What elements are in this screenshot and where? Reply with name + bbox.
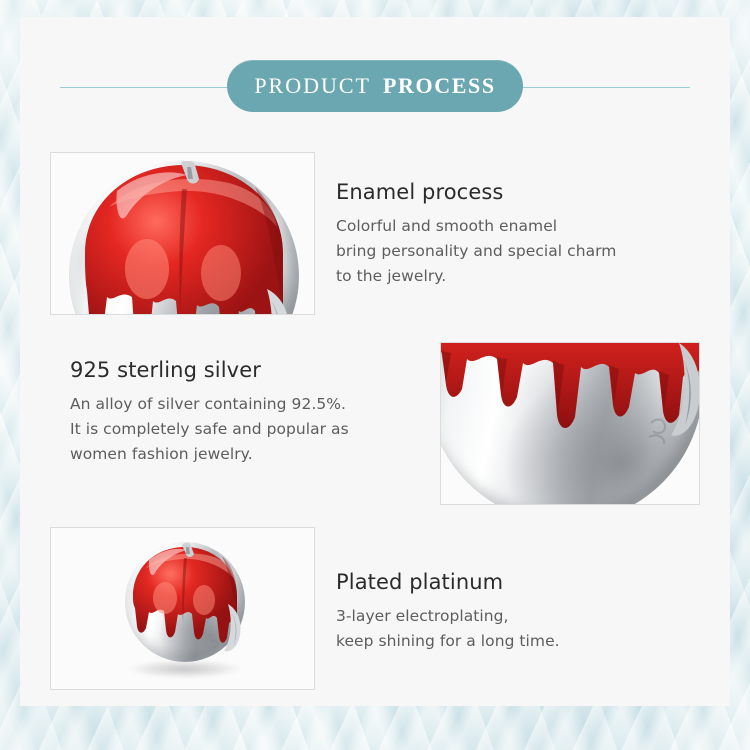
feature-body-line: to the jewelry. <box>336 264 706 289</box>
header-rule-right <box>518 87 690 88</box>
feature-body-line: An alloy of silver containing 92.5%. <box>70 392 450 417</box>
full-apple-bead-art <box>125 542 245 662</box>
title-word-product: PRODUCT <box>254 75 371 97</box>
feature-image-enamel <box>50 152 315 315</box>
feature-text-enamel: Enamel process Colorful and smooth ename… <box>336 180 706 290</box>
feature-text-sterling-silver: 925 sterling silver An alloy of silver c… <box>70 358 450 468</box>
feature-heading-plated-platinum: Plated platinum <box>336 570 706 595</box>
feature-body-line: 3-layer electroplating, <box>336 604 706 629</box>
feature-body-line: bring personality and special charm <box>336 239 706 264</box>
feature-body-line: women fashion jewelry. <box>70 442 450 467</box>
apple-bead-closeup-art <box>69 161 299 315</box>
feature-text-plated-platinum: Plated platinum 3-layer electroplating, … <box>336 570 706 654</box>
silver-base-closeup-art <box>440 342 700 505</box>
feature-heading-enamel: Enamel process <box>336 180 706 205</box>
content-panel: PRODUCT PROCESS <box>20 17 730 706</box>
feature-body-line: keep shining for a long time. <box>336 629 706 654</box>
feature-heading-sterling-silver: 925 sterling silver <box>70 358 450 383</box>
feature-body-line: Colorful and smooth enamel <box>336 214 706 239</box>
feature-body-line: It is completely safe and popular as <box>70 417 450 442</box>
feature-image-plated-platinum <box>50 527 315 690</box>
feature-image-sterling-silver <box>440 342 700 505</box>
header-rule-left <box>60 87 232 88</box>
poster-header: PRODUCT PROCESS <box>20 60 730 116</box>
title-banner: PRODUCT PROCESS <box>227 60 523 112</box>
red-enamel-cap <box>69 161 299 315</box>
title-word-process: PROCESS <box>383 75 496 97</box>
red-enamel-cap <box>125 542 245 662</box>
product-process-poster: PRODUCT PROCESS <box>0 0 750 750</box>
red-drip-edge <box>440 342 700 505</box>
bead-drop-shadow <box>129 660 241 678</box>
